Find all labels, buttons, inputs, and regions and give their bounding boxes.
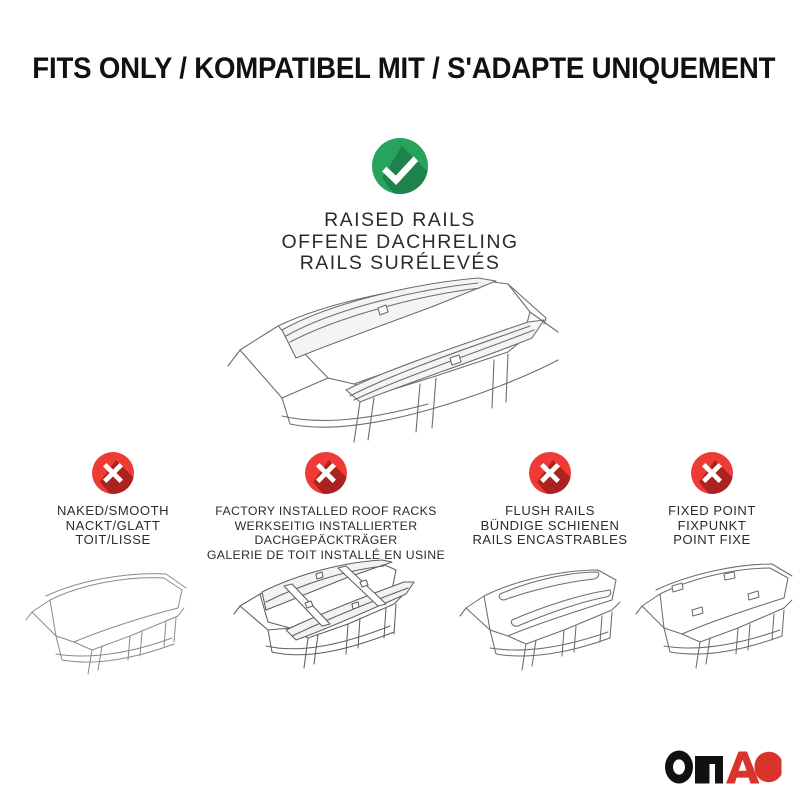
- label-de-line2: DACHGEPÄCKTRÄGER: [201, 533, 451, 548]
- car-roof-naked-smooth-illustration: [6, 566, 202, 678]
- label-en: NAKED/SMOOTH: [13, 504, 213, 519]
- green-check-icon: [372, 138, 428, 194]
- label-en: FLUSH RAILS: [452, 504, 648, 519]
- incompatible-item-flush-rails: FLUSH RAILS BÜNDIGE SCHIENEN RAILS ENCAS…: [452, 452, 648, 548]
- compatible-label-de: OFFENE DACHRELING: [0, 232, 800, 254]
- red-x-icon: [305, 452, 347, 494]
- incompatible-label-flush-rails: FLUSH RAILS BÜNDIGE SCHIENEN RAILS ENCAS…: [452, 504, 648, 548]
- incompatible-label-fixed-point: FIXED POINT FIXPUNKT POINT FIXE: [637, 504, 787, 548]
- label-de: FIXPUNKT: [637, 519, 787, 534]
- page-title: FITS ONLY / KOMPATIBEL MIT / S'ADAPTE UN…: [0, 52, 800, 86]
- label-fr: RAILS ENCASTRABLES: [452, 533, 648, 548]
- red-x-icon: [529, 452, 571, 494]
- label-fr: POINT FIXE: [637, 533, 787, 548]
- compatible-badge-wrap: [0, 138, 800, 194]
- label-de-line1: WERKSEITIG INSTALLIERTER: [201, 519, 451, 534]
- label-de: NACKT/GLATT: [13, 519, 213, 534]
- car-roof-with-fixed-points-illustration: [620, 556, 798, 674]
- label-de: BÜNDIGE SCHIENEN: [452, 519, 648, 534]
- incompatible-item-factory-roof-racks: FACTORY INSTALLED ROOF RACKS WERKSEITIG …: [201, 452, 451, 562]
- red-x-icon: [691, 452, 733, 494]
- compatible-section: RAISED RAILS OFFENE DACHRELING RAILS SUR…: [0, 138, 800, 275]
- label-en: FACTORY INSTALLED ROOF RACKS: [201, 504, 451, 519]
- label-fr: TOIT/LISSE: [13, 533, 213, 548]
- compatible-label: RAISED RAILS OFFENE DACHRELING RAILS SUR…: [0, 210, 800, 275]
- fitment-infographic: { "header": { "title": "FITS ONLY / KOMP…: [0, 0, 800, 800]
- incompatible-item-fixed-point: FIXED POINT FIXPUNKT POINT FIXE: [637, 452, 787, 548]
- incompatible-label-naked-smooth: NAKED/SMOOTH NACKT/GLATT TOIT/LISSE: [13, 504, 213, 548]
- page-title-text: FITS ONLY / KOMPATIBEL MIT / S'ADAPTE UN…: [32, 52, 775, 86]
- compatible-label-en: RAISED RAILS: [0, 210, 800, 232]
- car-roof-with-factory-crossbars-illustration: [212, 548, 444, 676]
- incompatible-item-naked-smooth: NAKED/SMOOTH NACKT/GLATT TOIT/LISSE: [13, 452, 213, 548]
- omac-logo: [664, 750, 782, 784]
- label-en: FIXED POINT: [637, 504, 787, 519]
- red-x-icon: [92, 452, 134, 494]
- car-roof-with-raised-rails-illustration: [178, 272, 630, 454]
- car-roof-with-flush-rails-illustration: [440, 558, 638, 676]
